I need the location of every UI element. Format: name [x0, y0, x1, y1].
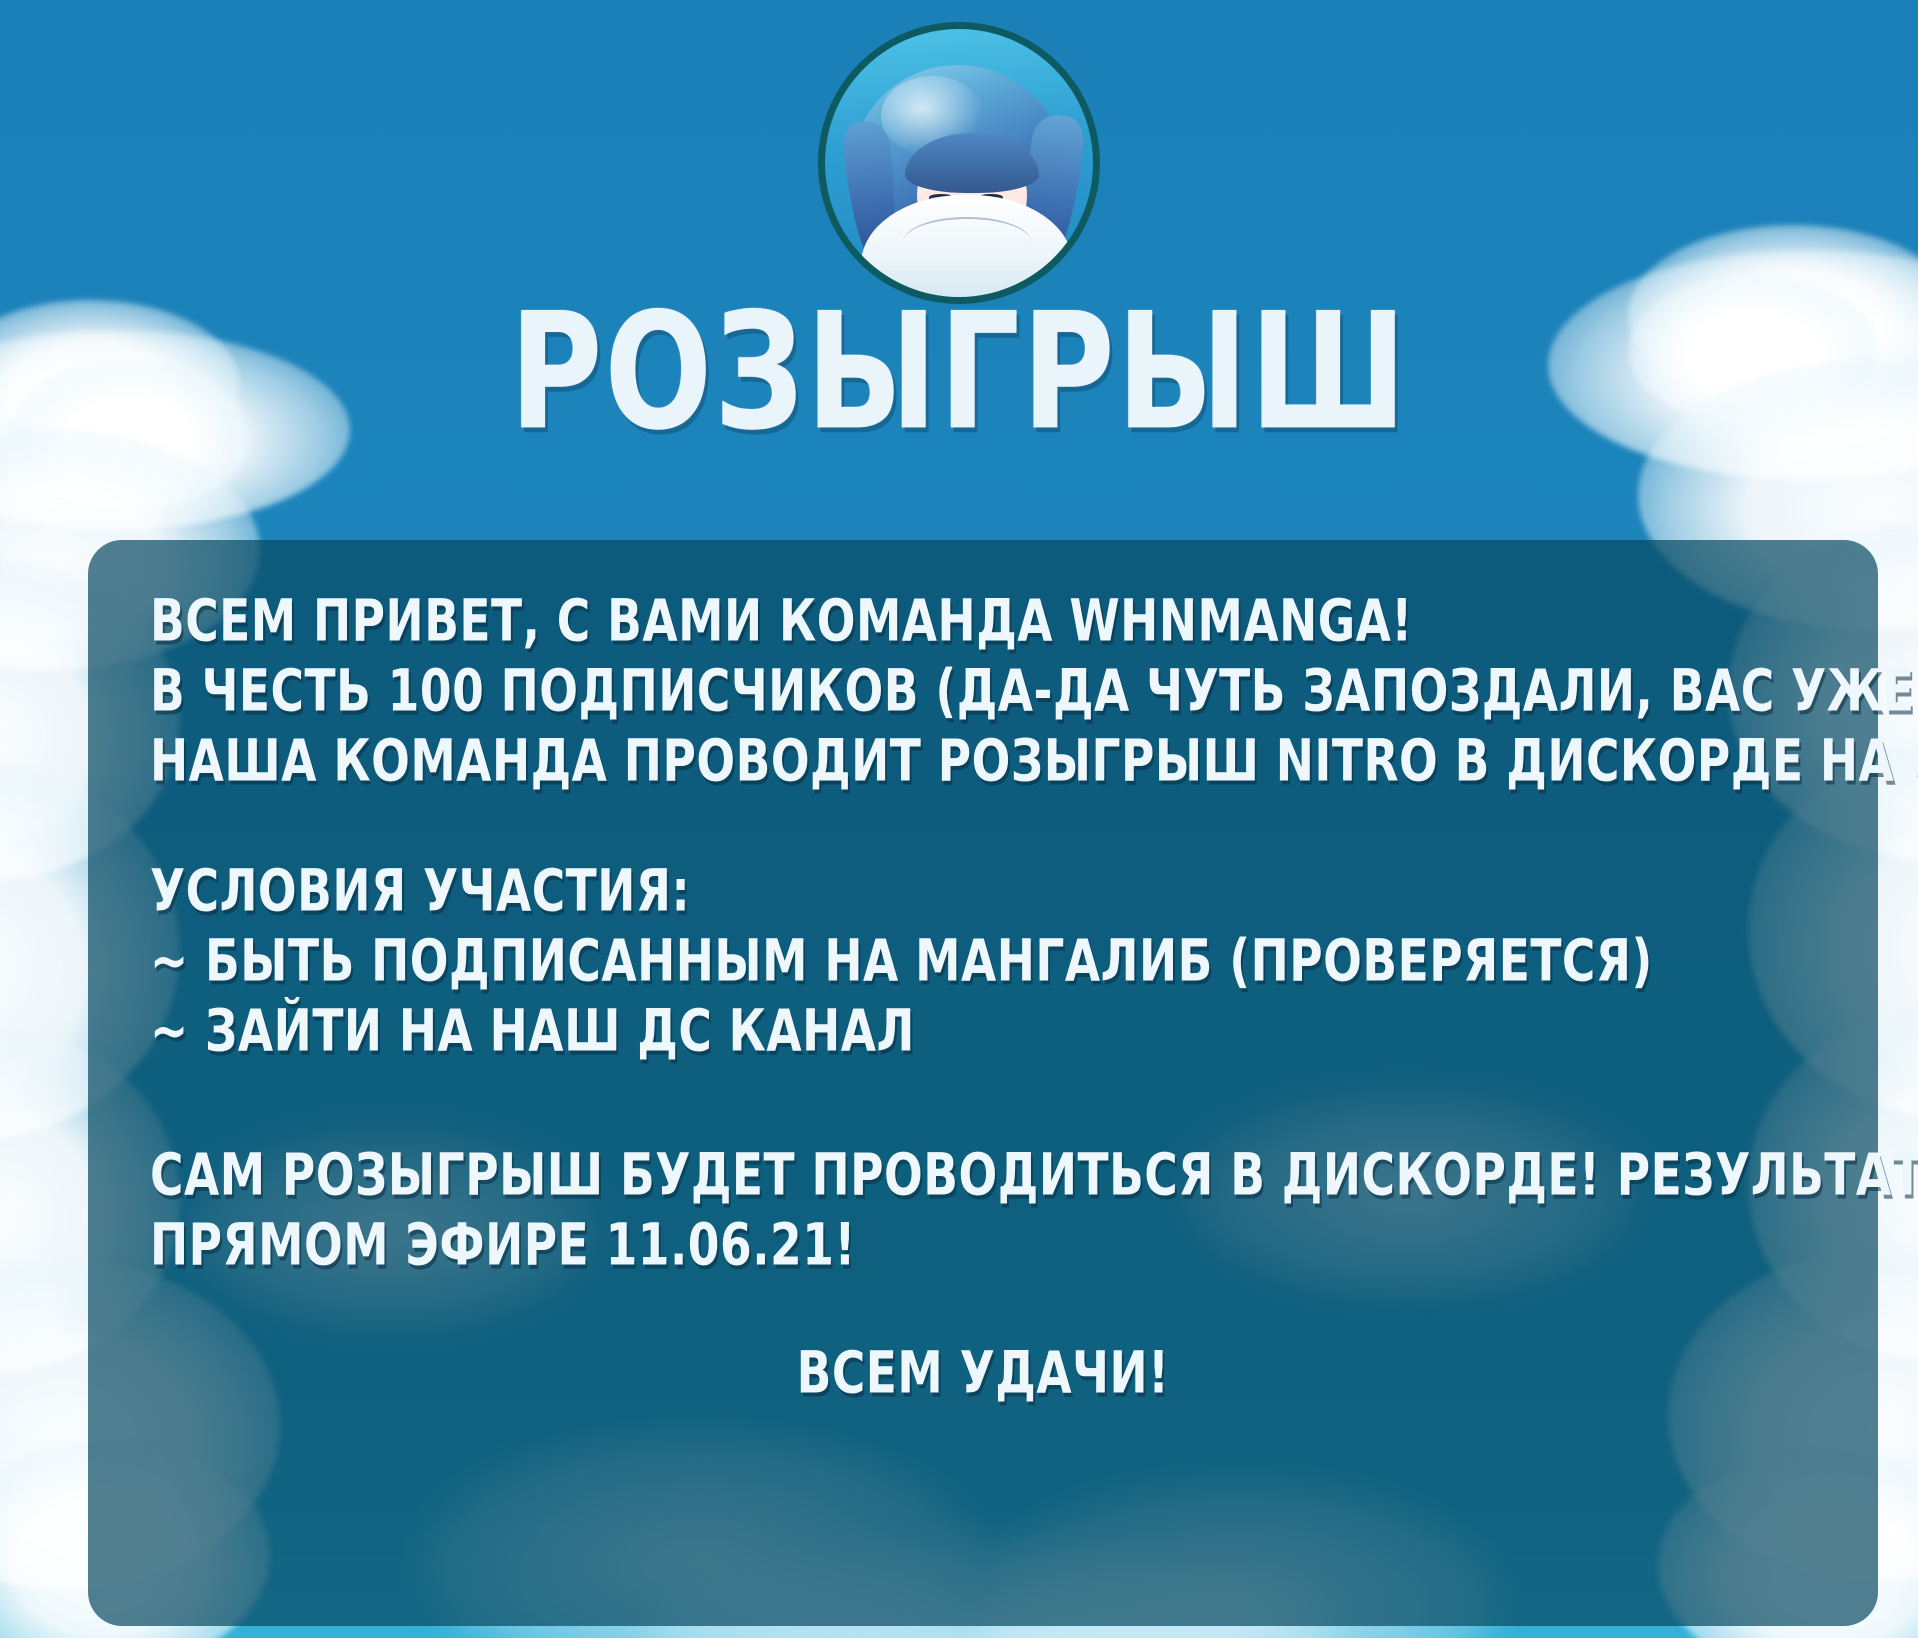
- condition-item-1: ~ БЫТЬ ПОДПИСАННЫМ НА МАНГАЛИБ (ПРОВЕРЯЕ…: [150, 932, 1766, 990]
- condition-item-2: ~ ЗАЙТИ НА НАШ ДС КАНАЛ: [150, 1002, 1766, 1060]
- outro-line-2: ПРЯМОМ ЭФИРЕ 11.06.21!: [150, 1216, 1766, 1274]
- intro-line-3: НАША КОМАНДА ПРОВОДИТ РОЗЫГРЫШ NITRO В Д…: [150, 732, 1766, 790]
- closing-line: ВСЕМ УДАЧИ!: [175, 1344, 1791, 1402]
- page-title: РОЗЫГРЫШ: [38, 292, 1879, 453]
- avatar-circle: [818, 22, 1100, 304]
- intro-line-1: ВСЕМ ПРИВЕТ, С ВАМИ КОМАНДА WHNMANGA!: [150, 592, 1766, 650]
- announcement-card: ВСЕМ ПРИВЕТ, С ВАМИ КОМАНДА WHNMANGA! В …: [88, 540, 1878, 1626]
- announcement-body: ВСЕМ ПРИВЕТ, С ВАМИ КОМАНДА WHNMANGA! В …: [88, 598, 1878, 1397]
- outro-line-1: САМ РОЗЫГРЫШ БУДЕТ ПРОВОДИТЬСЯ В ДИСКОРД…: [150, 1146, 1766, 1204]
- giveaway-poster: РОЗЫГРЫШ ВСЕМ ПРИВЕТ, С ВАМИ КОМАНДА WHN…: [0, 0, 1918, 1638]
- intro-line-2: В ЧЕСТЬ 100 ПОДПИСЧИКОВ (ДА-ДА ЧУТЬ ЗАПО…: [150, 662, 1766, 720]
- conditions-heading: УСЛОВИЯ УЧАСТИЯ:: [150, 862, 1766, 920]
- avatar: [818, 22, 1100, 304]
